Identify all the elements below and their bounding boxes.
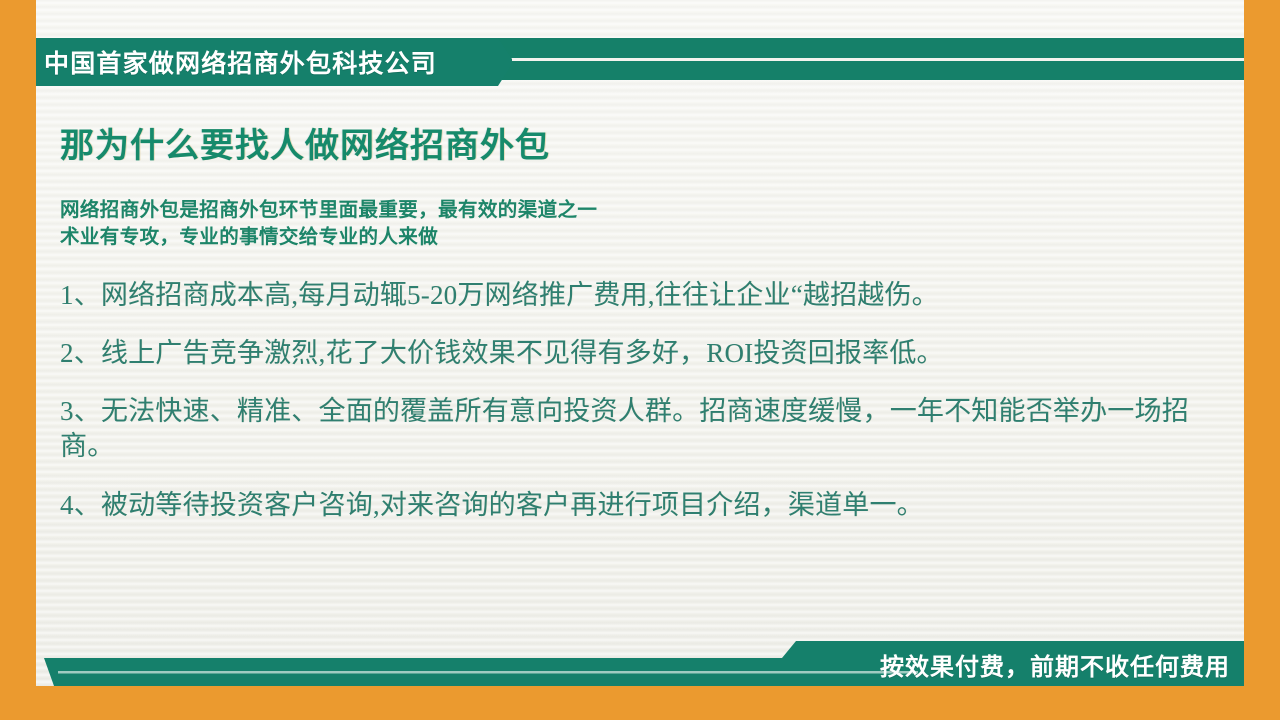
subtitle-block: 网络招商外包是招商外包环节里面最重要，最有效的渠道之一 术业有专攻，专业的事情交… [60,197,1190,252]
subtitle-line-1: 网络招商外包是招商外包环节里面最重要，最有效的渠道之一 [60,197,1190,225]
list-item: 4、被动等待投资客户咨询,对来咨询的客户再进行项目介绍，渠道单一。 [60,488,1190,523]
list-item: 3、无法快速、精准、全面的覆盖所有意向投资人群。招商速度缓慢，一年不知能否举办一… [60,394,1190,464]
list-item: 1、网络招商成本高,每月动辄5-20万网络推广费用,往往让企业“越招越伤。 [60,278,1190,313]
subtitle-line-2: 术业有专攻，专业的事情交给专业的人来做 [60,224,1190,252]
list-item: 2、线上广告竞争激烈,花了大价钱效果不见得有多好，ROI投资回报率低。 [60,336,1190,371]
slide-canvas: 中国首家做网络招商外包科技公司 那为什么要找人做网络招商外包 网络招商外包是招商… [0,0,1280,720]
page-title: 那为什么要找人做网络招商外包 [60,126,1190,167]
slide-content: 那为什么要找人做网络招商外包 网络招商外包是招商外包环节里面最重要，最有效的渠道… [60,126,1190,523]
header-label: 中国首家做网络招商外包科技公司 [44,45,437,79]
footer-label: 按效果付费，前期不收任何费用 [880,648,1230,680]
bullet-list: 1、网络招商成本高,每月动辄5-20万网络推广费用,往往让企业“越招越伤。 2、… [60,278,1190,522]
